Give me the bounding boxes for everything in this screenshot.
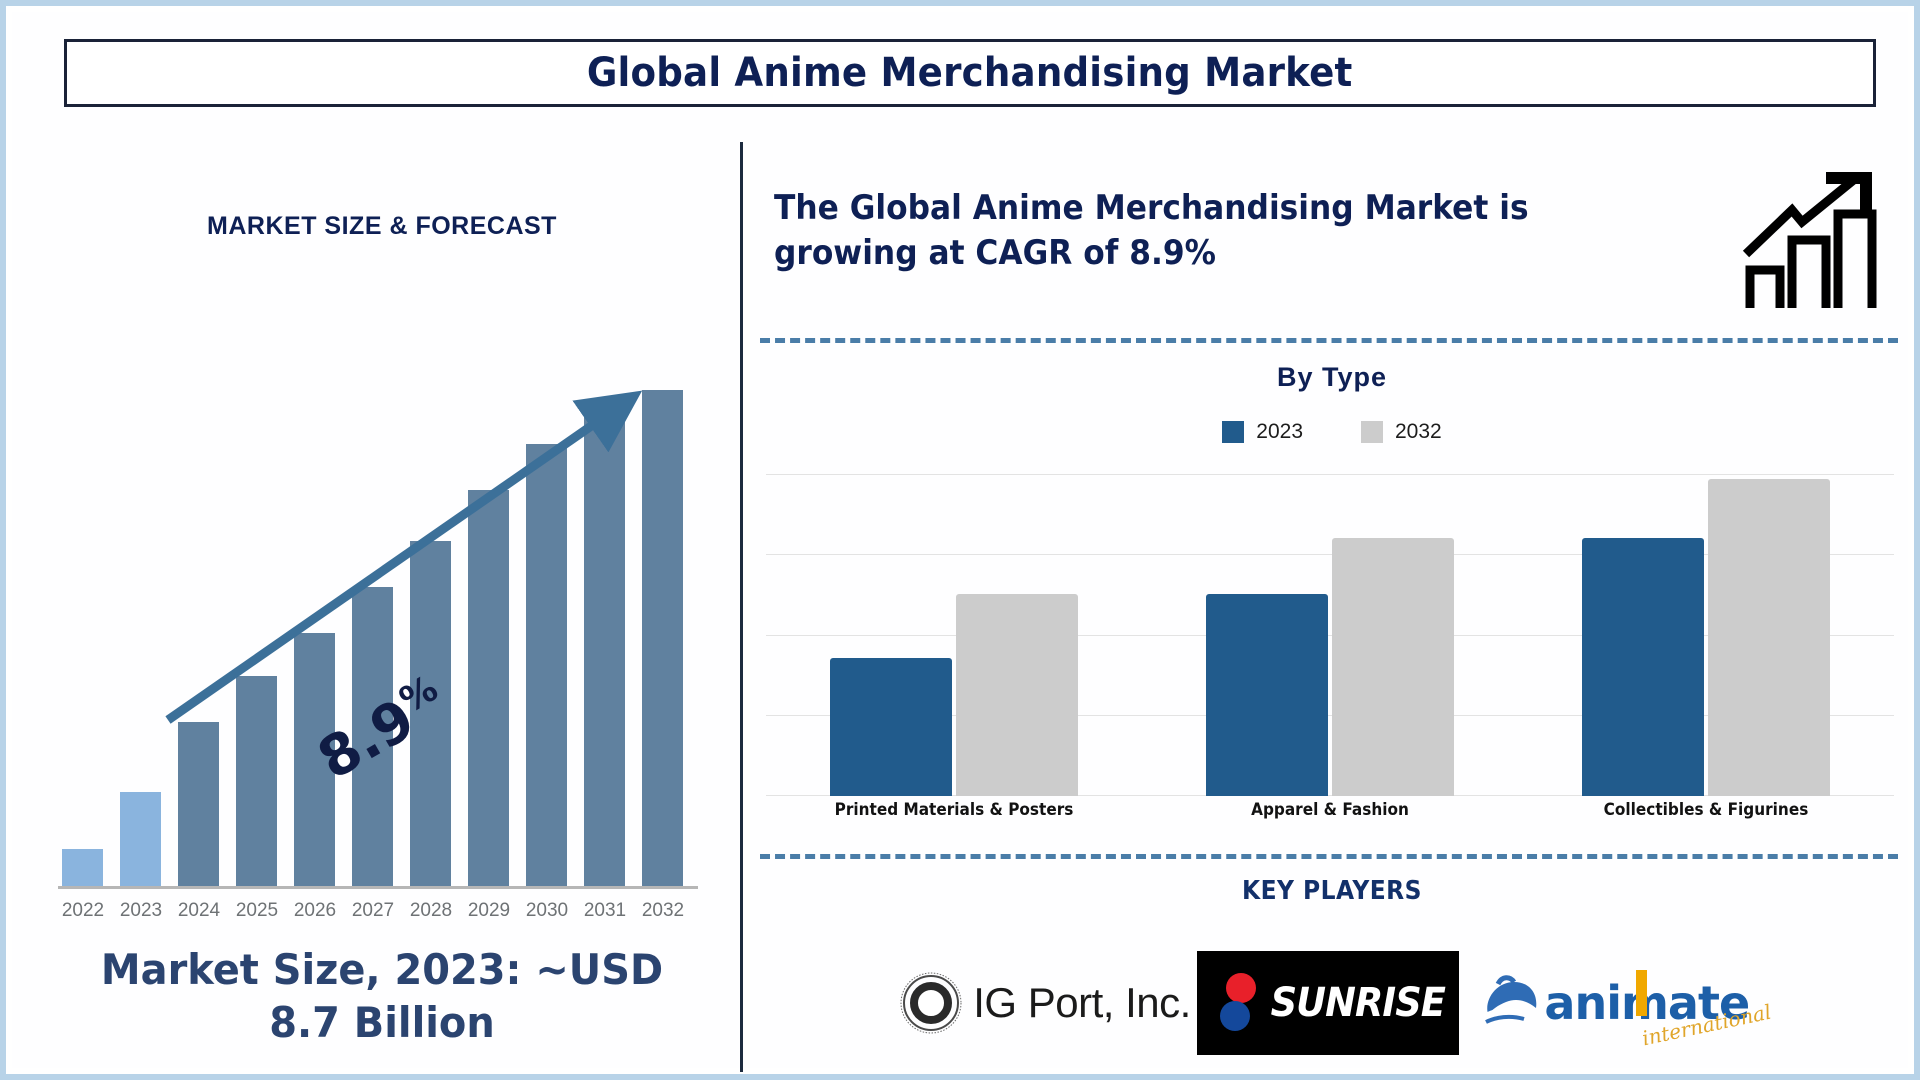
page-title: Global Anime Merchandising Market	[587, 50, 1353, 96]
legend-label: 2032	[1395, 420, 1442, 444]
panel-divider	[740, 142, 743, 1072]
by-type-category-labels: Printed Materials & PostersApparel & Fas…	[766, 800, 1894, 834]
animate-mark-icon	[1480, 974, 1542, 1032]
market-size-value-line1: Market Size, 2023: ~USD	[57, 944, 707, 997]
forecast-year-label: 2026	[284, 900, 346, 922]
legend-swatch	[1222, 421, 1244, 443]
gridline	[766, 474, 1894, 475]
animate-i-accent-icon	[1636, 970, 1647, 1016]
forecast-year-labels: 2022202320242025202620272028202920302031…	[40, 900, 700, 934]
market-size-forecast-panel: MARKET SIZE & FORECAST 20222023202420252…	[22, 132, 742, 1077]
by-type-legend: 20232032	[752, 420, 1912, 444]
by-type-bar	[1332, 538, 1454, 796]
key-players-logos: IG Port, Inc. SUNRISE	[752, 938, 1912, 1068]
by-type-title: By Type	[752, 362, 1912, 393]
market-size-value: Market Size, 2023: ~USD 8.7 Billion	[57, 944, 707, 1049]
ig-port-ring-logo-icon	[899, 971, 963, 1035]
forecast-year-label: 2024	[168, 900, 230, 922]
legend-swatch	[1361, 421, 1383, 443]
forecast-year-label: 2031	[574, 900, 636, 922]
cagr-statement-row: The Global Anime Merchandising Market is…	[762, 162, 1912, 327]
forecast-year-label: 2027	[342, 900, 404, 922]
by-type-chart	[766, 474, 1894, 796]
logo-sunrise: SUNRISE	[1197, 951, 1459, 1055]
by-type-bar	[830, 658, 952, 796]
forecast-year-label: 2030	[516, 900, 578, 922]
right-panel: The Global Anime Merchandising Market is…	[752, 138, 1912, 1078]
market-size-forecast-chart: 2022202320242025202620272028202920302031…	[40, 342, 720, 982]
legend-item: 2023	[1222, 420, 1303, 444]
cagr-trend-arrow-icon	[40, 342, 700, 862]
by-type-bar	[1708, 479, 1830, 796]
by-type-category-label: Printed Materials & Posters	[785, 800, 1123, 820]
forecast-year-label: 2029	[458, 900, 520, 922]
forecast-year-label: 2025	[226, 900, 288, 922]
legend-item: 2032	[1361, 420, 1442, 444]
by-type-bar	[956, 594, 1078, 796]
bar-chart-growth-arrow-icon	[1740, 166, 1890, 316]
logo-ig-port: IG Port, Inc.	[899, 971, 1191, 1035]
logo-animate-international: animate international	[1465, 951, 1765, 1055]
by-type-bar	[1206, 594, 1328, 796]
infographic-page: Global Anime Merchandising Market MARKET…	[0, 0, 1920, 1080]
market-size-value-line2: 8.7 Billion	[57, 997, 707, 1050]
divider-dashed-bottom	[760, 854, 1898, 859]
forecast-year-label: 2023	[110, 900, 172, 922]
forecast-year-label: 2028	[400, 900, 462, 922]
market-size-heading: MARKET SIZE & FORECAST	[22, 212, 742, 241]
sunrise-dots-icon	[1217, 972, 1261, 1034]
infographic-inner: Global Anime Merchandising Market MARKET…	[12, 12, 1908, 1068]
forecast-year-label: 2032	[632, 900, 694, 922]
legend-label: 2023	[1256, 420, 1303, 444]
by-type-category-label: Apparel & Fashion	[1161, 800, 1499, 820]
cagr-statement: The Global Anime Merchandising Market is…	[774, 186, 1630, 276]
title-banner: Global Anime Merchandising Market	[64, 39, 1876, 107]
forecast-axis-line	[58, 886, 698, 889]
by-type-category-label: Collectibles & Figurines	[1537, 800, 1875, 820]
key-players-title: KEY PLAYERS	[810, 876, 1854, 906]
forecast-year-label: 2022	[52, 900, 114, 922]
sunrise-wordmark: SUNRISE	[1271, 980, 1445, 1026]
by-type-bar	[1582, 538, 1704, 796]
ig-port-wordmark: IG Port, Inc.	[973, 979, 1191, 1027]
divider-dashed-top	[760, 338, 1898, 343]
